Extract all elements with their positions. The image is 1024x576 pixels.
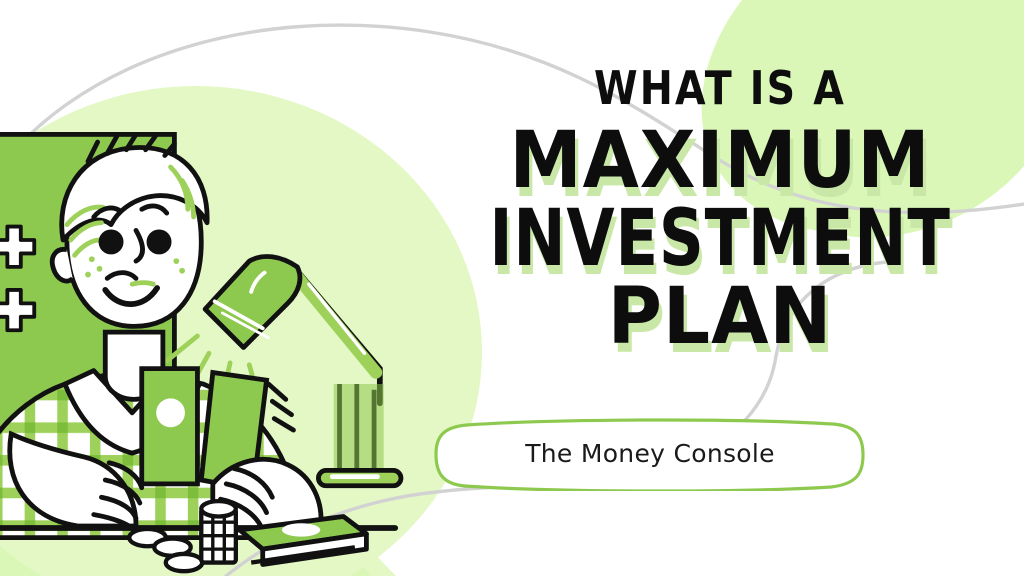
cta-button-label: The Money Console (433, 439, 867, 468)
slide-canvas: WHAT IS A MAXIMUM MAXIMUM INVESTMENT INV… (0, 0, 1024, 576)
illustration-person-counting-money-at-desk (0, 96, 412, 576)
gray-curve-right (776, 262, 886, 356)
top-right-green-blob-body (714, 0, 1024, 237)
cta-button[interactable]: The Money Console (433, 417, 867, 491)
